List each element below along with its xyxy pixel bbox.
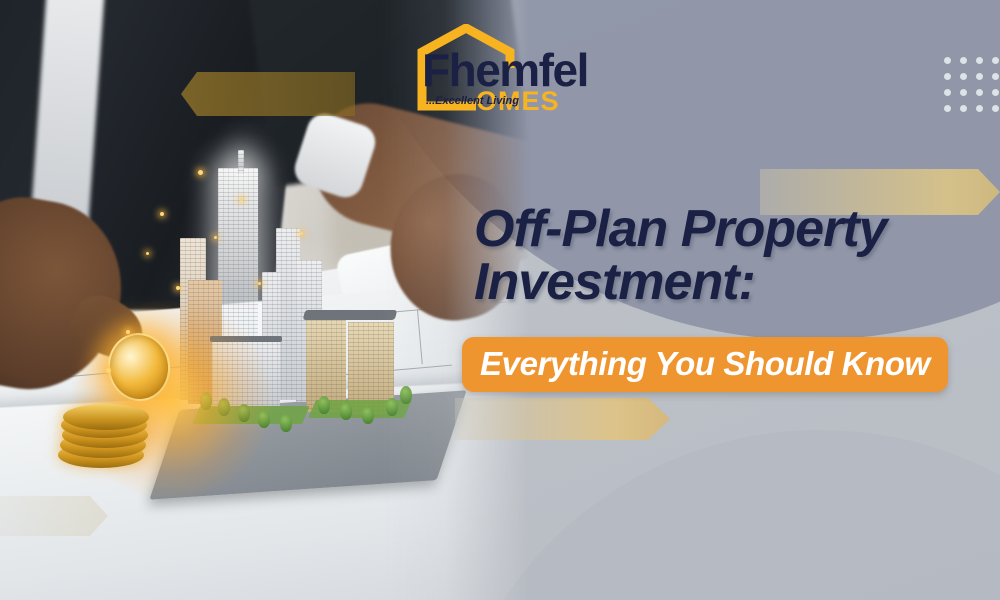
headline: Off-Plan Property Investment: [474,204,986,309]
banner-root: OMES Fhemfel ...Excellent Living Off-Pla… [0,0,1000,600]
headline-line-2: Investment: [474,257,986,308]
tree-icon [400,386,412,404]
apartment-roof [303,310,397,320]
subtitle-text: Everything You Should Know [480,347,930,380]
svg-text:...Excellent Living: ...Excellent Living [426,95,519,107]
brand-logo[interactable]: OMES Fhemfel ...Excellent Living [414,24,594,124]
block-low-roof [210,336,282,342]
tree-icon [340,402,352,420]
model-lawn [192,406,310,424]
accent-band-top-left [181,72,355,116]
tree-icon [218,398,230,416]
glass-tower-spire-icon [238,150,244,174]
tree-icon [280,414,292,432]
accent-band-bottom-left [0,496,108,536]
block-low-icon [212,340,280,406]
tree-icon [386,398,398,416]
dot-grid-pattern [944,57,1000,121]
subtitle-banner: Everything You Should Know [462,337,948,392]
tree-icon [362,406,374,424]
tree-icon [258,410,270,428]
svg-text:Fhemfel: Fhemfel [422,44,588,96]
accent-band-middle [455,398,670,440]
headline-line-1: Off-Plan Property [474,204,986,255]
tree-icon [200,392,212,410]
tree-icon [318,396,330,414]
tree-icon [238,404,250,422]
